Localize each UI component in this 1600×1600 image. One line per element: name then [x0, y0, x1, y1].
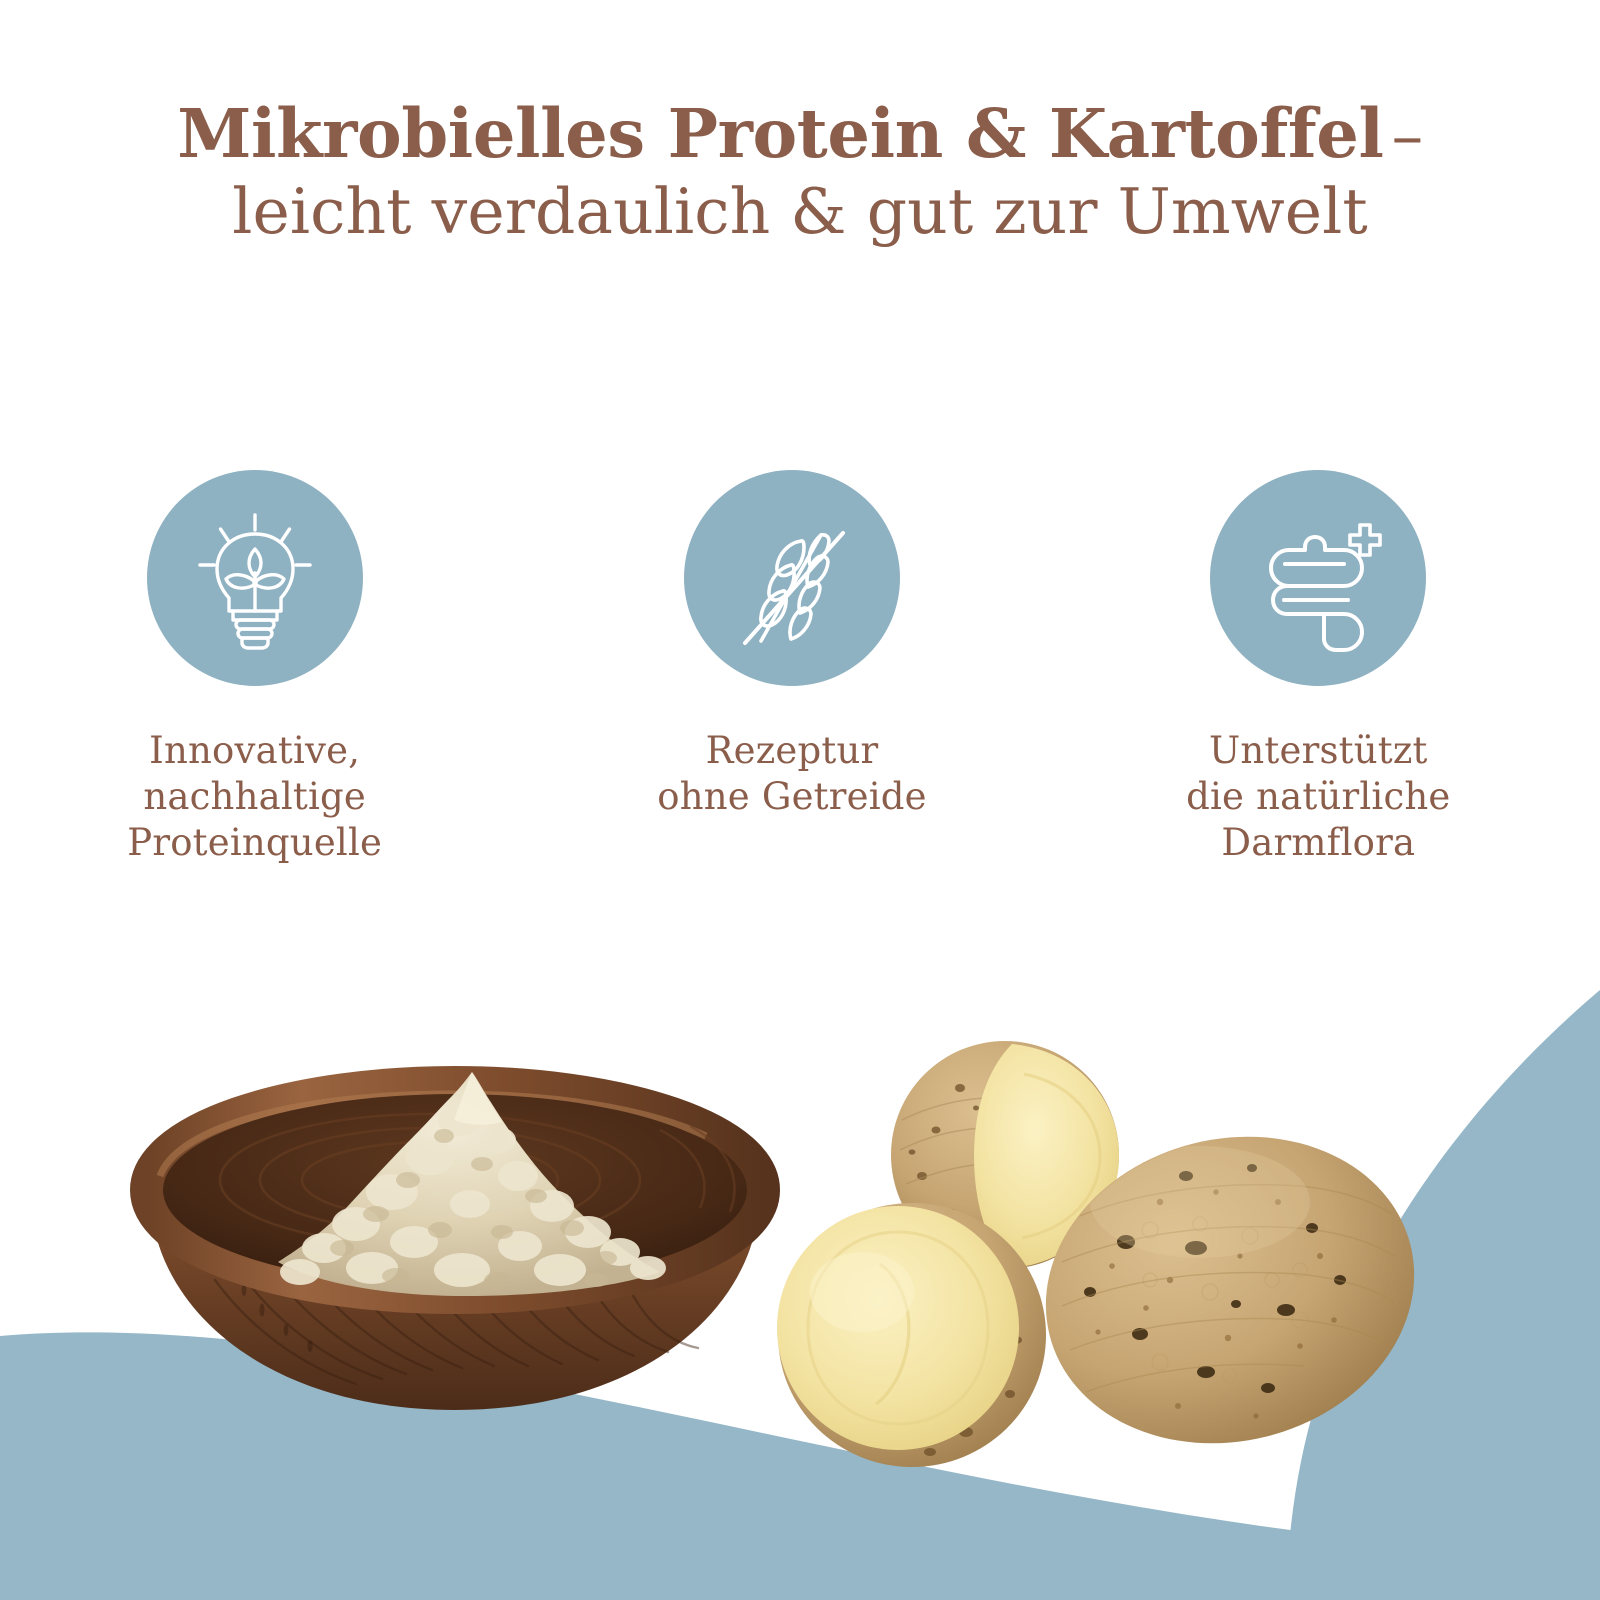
feature-item-sustainable-protein: Innovative, nachhaltige Proteinquelle [0, 470, 521, 866]
gut-health-plus-icon [1243, 503, 1393, 653]
headline-line-2: leicht verdaulich & gut zur Umwelt [0, 172, 1600, 251]
feature-caption-3: Unterstützt die natürliche Darmflora [1186, 728, 1450, 866]
headline-line-1-text: Mikrobielles Protein & Kartoffel [177, 94, 1383, 173]
potato-front-flesh [777, 1206, 1019, 1450]
grain-free-wheat-icon [717, 503, 867, 653]
feature-item-gut-health: Unterstützt die natürliche Darmflora [1052, 470, 1585, 866]
feature-icon-circle-1 [147, 470, 363, 686]
headline-block: Mikrobielles Protein & Kartoffel– leicht… [0, 96, 1600, 251]
photo-composition [0, 980, 1600, 1600]
headline-em-dash: – [1384, 99, 1423, 172]
feature-caption-2: Rezeptur ohne Getreide [657, 728, 927, 820]
halved-potato-front [777, 1203, 1046, 1467]
feature-caption-1: Innovative, nachhaltige Proteinquelle [127, 728, 382, 866]
lightbulb-sprout-icon [180, 503, 330, 653]
feature-icon-circle-2 [684, 470, 900, 686]
product-photo-area [0, 980, 1600, 1600]
infographic-canvas: Mikrobielles Protein & Kartoffel– leicht… [0, 0, 1600, 1600]
feature-icon-circle-3 [1210, 470, 1426, 686]
potato-front-flesh-highlight [810, 1252, 914, 1332]
feature-item-grain-free: Rezeptur ohne Getreide [525, 470, 1058, 866]
feature-row: Innovative, nachhaltige Proteinquelle [0, 470, 1600, 866]
wooden-bowl [148, 1072, 762, 1410]
headline-line-1: Mikrobielles Protein & Kartoffel– [0, 96, 1600, 172]
